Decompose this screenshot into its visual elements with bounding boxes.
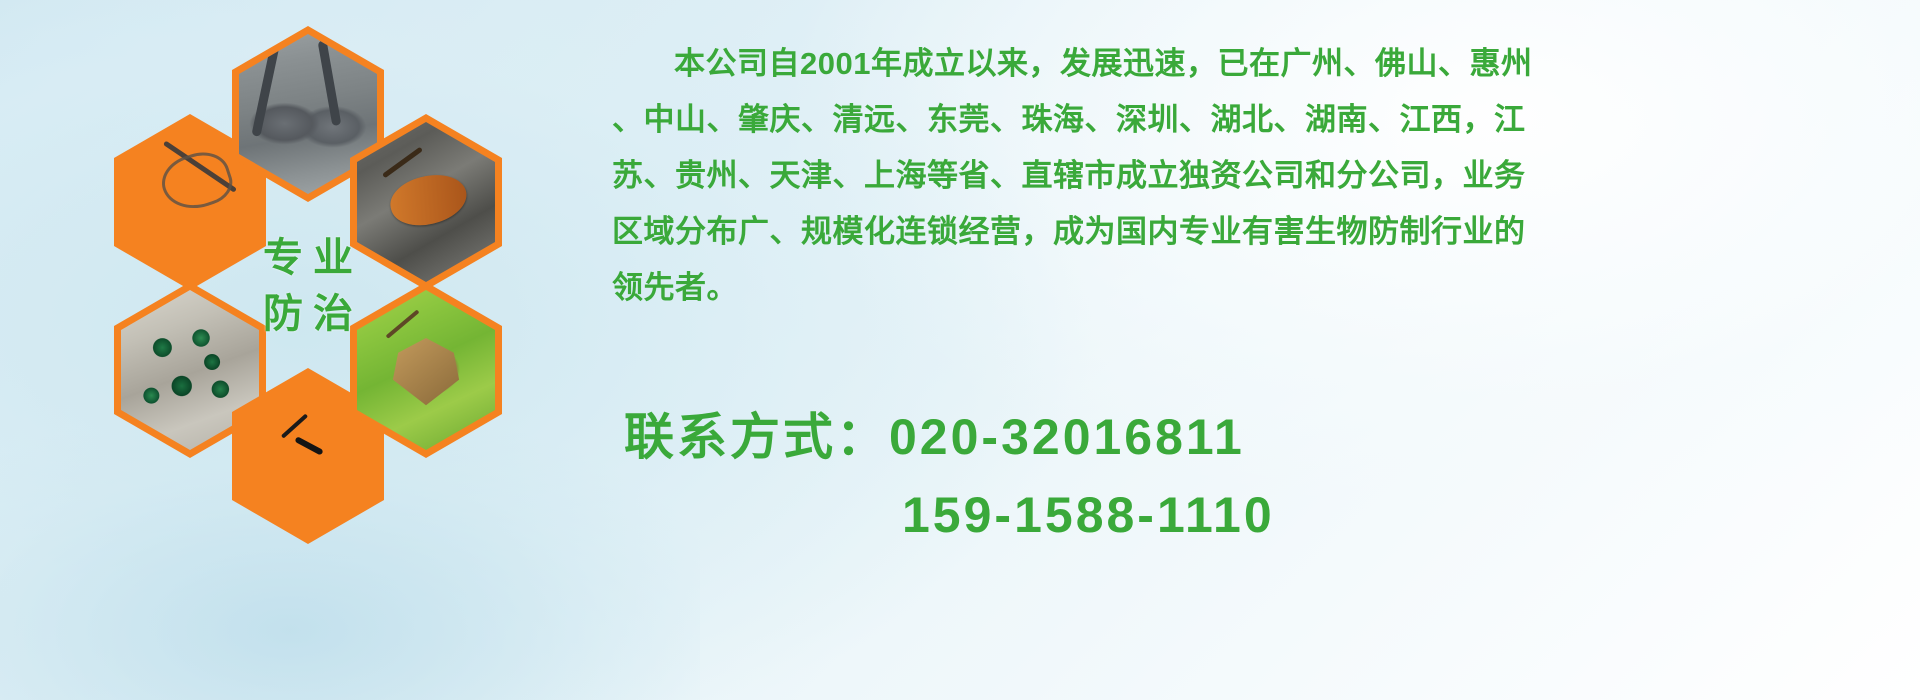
description-line-4: 区域分布广、规模化连锁经营，成为国内专业有害生物防制行业的 [612,204,1902,260]
contact-phone-mobile[interactable]: 159-1588-1110 [612,476,1912,554]
contact-block: 联系方式：020-32016811 159-1588-1110 [612,398,1912,554]
promo-banner: 专业 防治 本公司自2001年成立以来，发展迅速，已在广州、佛山、惠州 、中山、… [0,0,1920,700]
hex-photo-cluster: 专业 防治 [84,10,584,570]
contact-phone-primary[interactable]: 联系方式：020-32016811 [612,398,1912,476]
hex-center-slogan: 专业 防治 [232,198,384,374]
description-line-5: 领先者。 [612,260,1902,316]
description-line-1: 本公司自2001年成立以来，发展迅速，已在广州、佛山、惠州 [612,36,1902,92]
description-line-2: 、中山、肇庆、清远、东莞、珠海、深圳、湖北、湖南、江西，江 [612,92,1902,148]
company-description: 本公司自2001年成立以来，发展迅速，已在广州、佛山、惠州 、中山、肇庆、清远、… [612,36,1902,316]
description-line-3: 苏、贵州、天津、上海等省、直辖市成立独资公司和分公司，业务 [612,148,1902,204]
slogan-line-1: 专业 [253,238,363,278]
slogan-line-2: 防治 [253,294,363,334]
